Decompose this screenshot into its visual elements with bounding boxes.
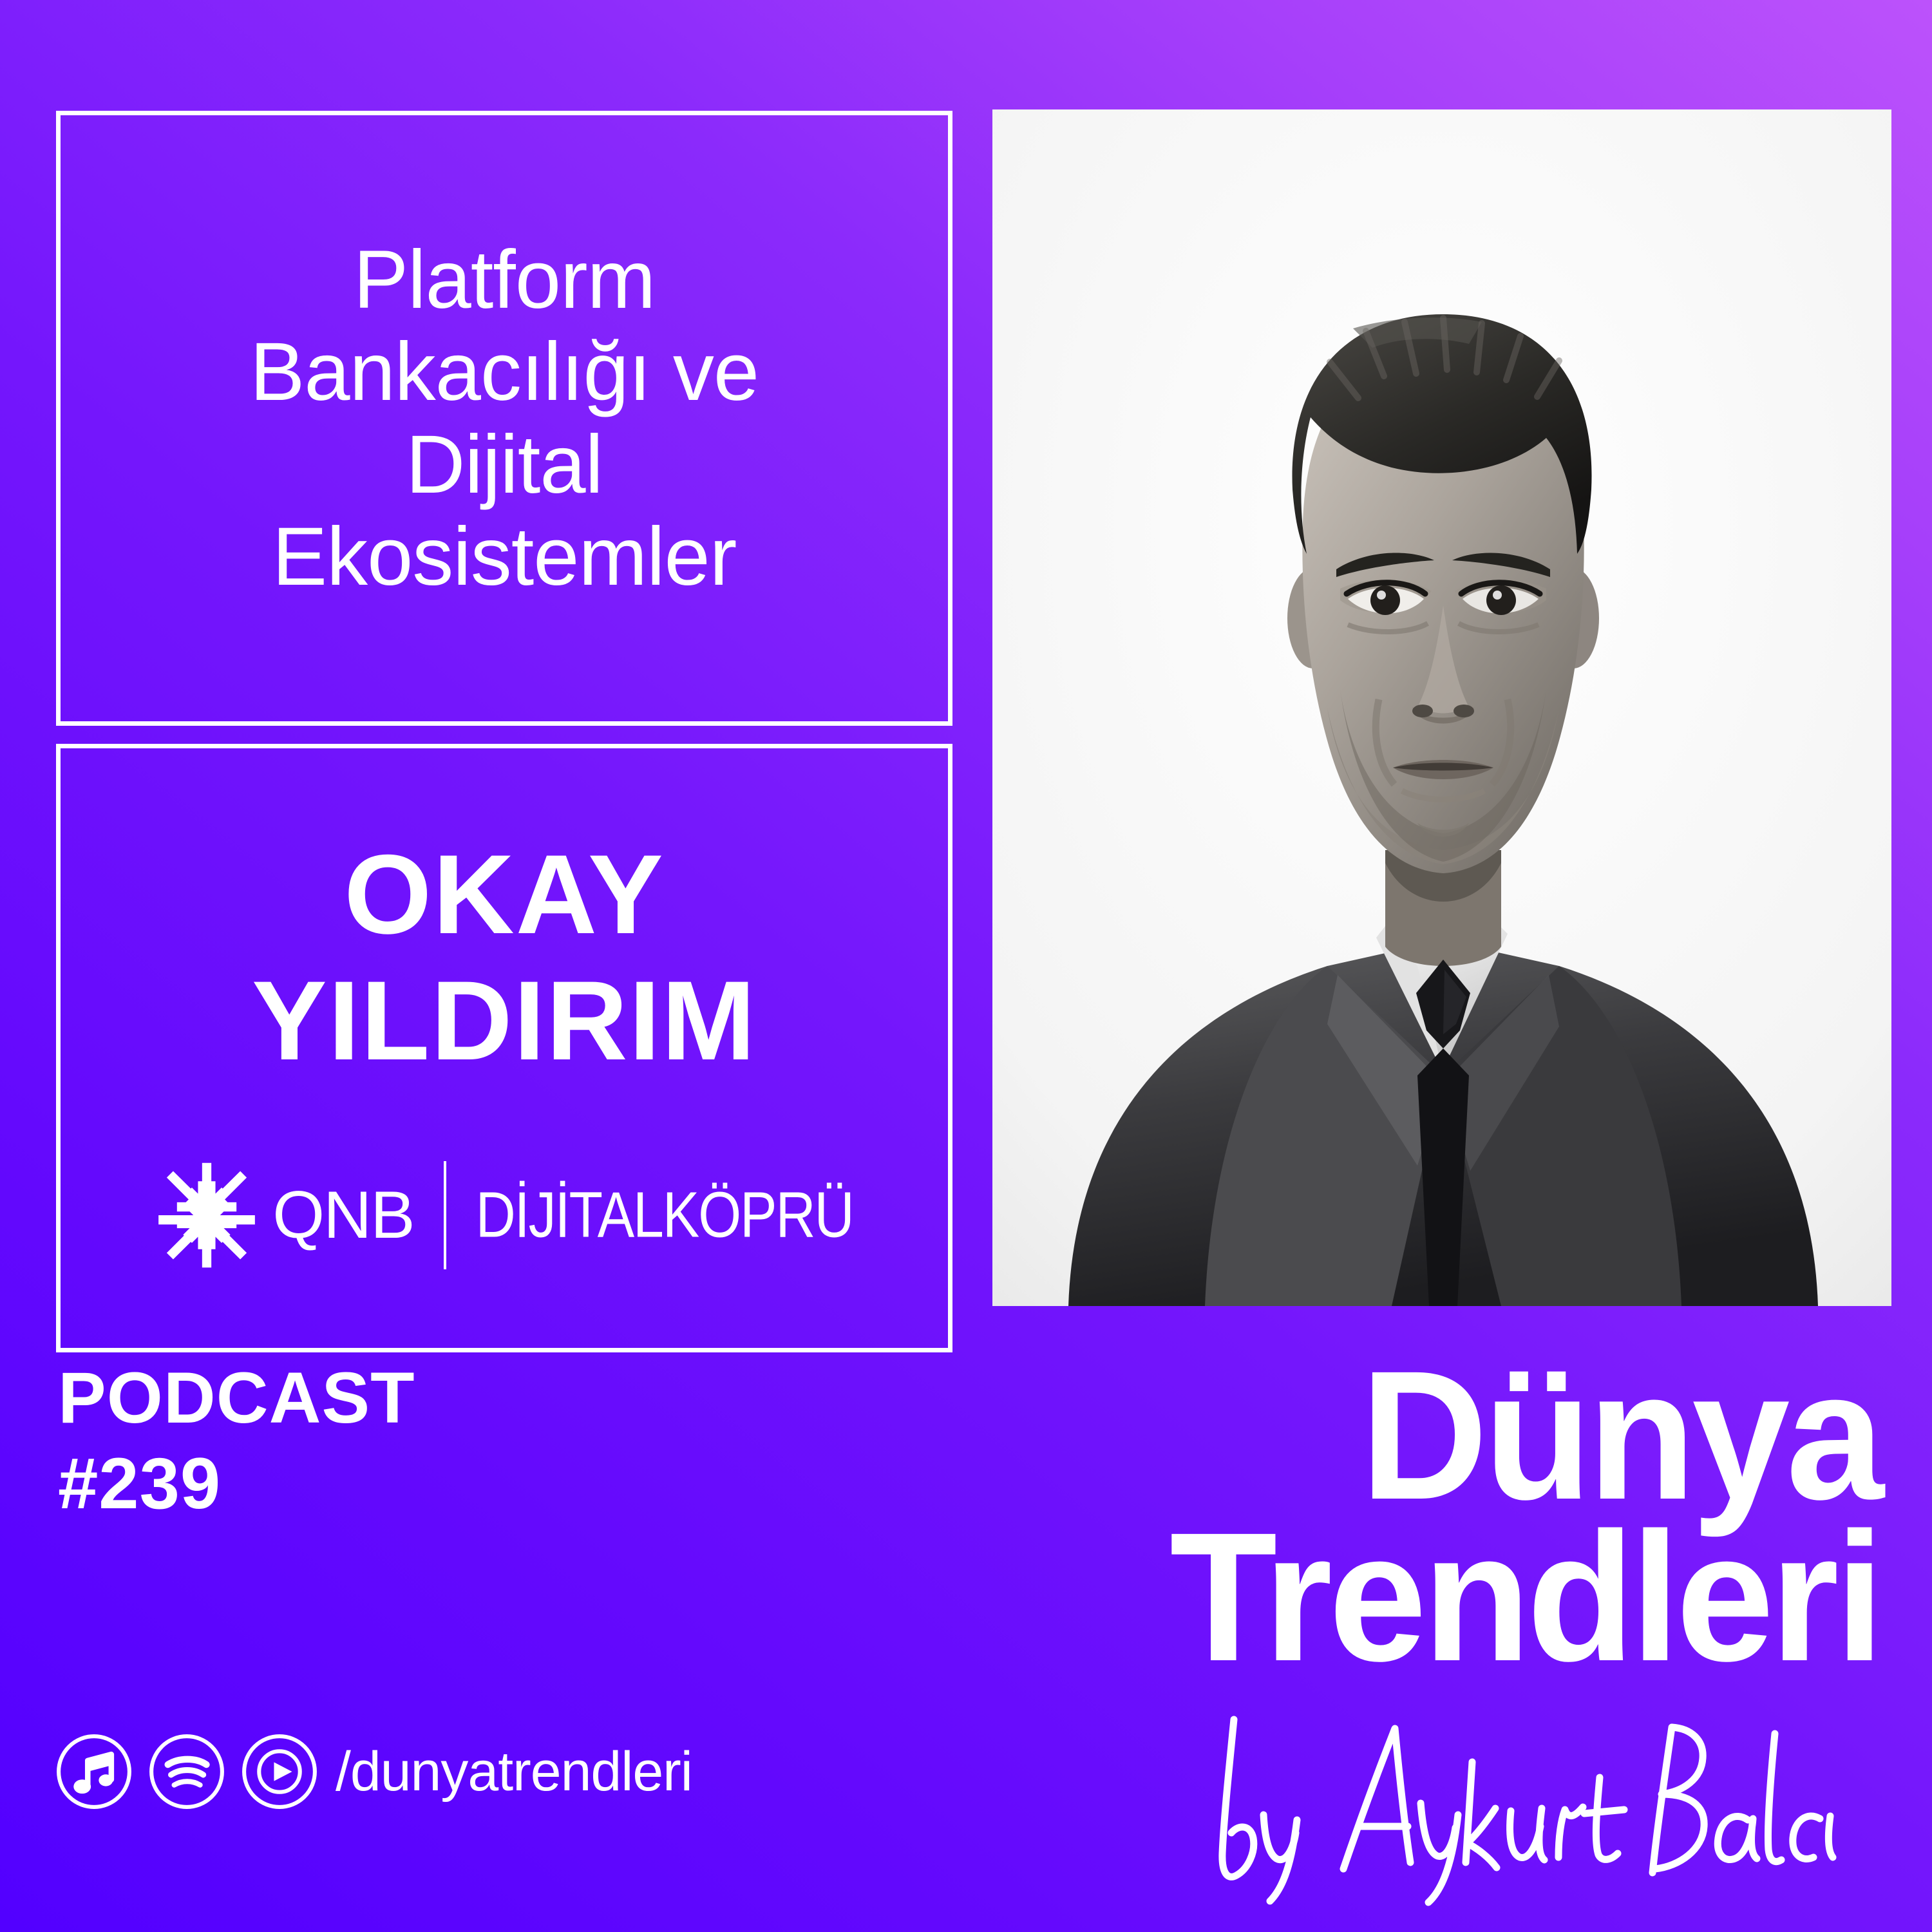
sponsor-divider (444, 1161, 446, 1269)
left-column: Platform Bankacılığı ve Dijital Ekosiste… (56, 111, 952, 1352)
qnb-star-icon (155, 1160, 258, 1271)
brand-wordmark-line-1: Dünya (1151, 1359, 1880, 1513)
byline-signature (1194, 1700, 1870, 1913)
play-circle-icon[interactable] (240, 1732, 319, 1811)
social-row: /dunyatrendleri (55, 1732, 692, 1811)
social-handle[interactable]: /dunyatrendleri (336, 1744, 692, 1799)
speaker-name: OKAY YILDIRIM (61, 832, 948, 1084)
episode-title-box: Platform Bankacılığı ve Dijital Ekosiste… (56, 111, 952, 726)
brand-wordmark: Dünya Trendleri (1121, 1359, 1880, 1675)
dijitalkopru-wordmark: DİJİTALKÖPRÜ (476, 1183, 853, 1247)
brand-wordmark-line-2: Trendleri (1151, 1520, 1880, 1674)
episode-title: Platform Bankacılığı ve Dijital Ekosiste… (205, 234, 804, 603)
speaker-portrait (992, 109, 1891, 1306)
podcast-cover: Platform Bankacılığı ve Dijital Ekosiste… (0, 0, 1932, 1932)
podcast-episode-label: PODCAST #239 (58, 1355, 415, 1527)
sponsor-row: QNB DİJİTALKÖPRÜ (61, 1160, 948, 1271)
music-note-icon[interactable] (55, 1732, 133, 1811)
speaker-name-box: OKAY YILDIRIM (56, 744, 952, 1352)
qnb-wordmark: QNB (272, 1182, 413, 1249)
spotify-waves-icon[interactable] (147, 1732, 226, 1811)
sponsor-qnb: QNB (155, 1160, 413, 1271)
